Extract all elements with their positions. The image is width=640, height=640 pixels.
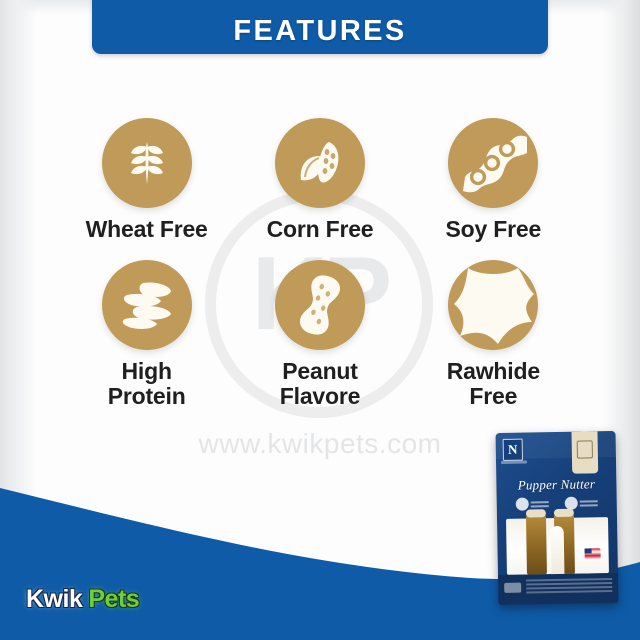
badge-icon (516, 497, 529, 510)
package-product-title: Pupper Nutter (496, 476, 616, 494)
chew-stick-cap (554, 509, 574, 517)
chew-stick-cap (526, 509, 546, 517)
product-package-image: N Pupper Nutter (496, 431, 619, 605)
feature-item-corn-free: Corn Free (233, 118, 406, 242)
feature-item-rawhide-free: Rawhide Free (407, 260, 580, 409)
feature-label: High Protein (108, 359, 186, 409)
feature-grid: Wheat Free (60, 118, 580, 408)
feature-item-soy-free: Soy Free (407, 118, 580, 242)
feature-item-high-protein: High Protein (60, 260, 233, 409)
feature-label: Rawhide Free (447, 359, 540, 409)
logo-word-pets: Pets (88, 585, 139, 614)
page-title: FEATURES (233, 17, 406, 46)
infographic-canvas: KP FEATURES Wh (0, 0, 640, 640)
package-hang-tab (571, 431, 598, 473)
package-brand-monogram: N (503, 439, 523, 461)
dog-silhouette-icon (504, 583, 521, 593)
feature-label: Corn Free (267, 217, 374, 242)
peanut-icon (275, 260, 365, 350)
logo-word-kwik: Kwik (26, 585, 82, 614)
feature-label: Wheat Free (86, 217, 208, 242)
meat-steak-icon (102, 260, 192, 350)
package-hang-tab-hole (577, 440, 593, 458)
package-clear-window (506, 517, 609, 575)
kwik-pets-logo: Kwik Pets (26, 585, 139, 614)
corn-icon (275, 118, 365, 208)
flag-union (585, 548, 592, 553)
package-footer-band (498, 573, 619, 605)
left-edge-shading (0, 0, 38, 640)
package-brand-underline (501, 461, 527, 464)
chew-stick-left (526, 512, 547, 574)
feature-item-peanut-flavore: Peanut Flavore (233, 260, 406, 409)
badge-text-lines (531, 501, 549, 507)
feature-label: Soy Free (446, 217, 542, 242)
usa-flag-icon (585, 548, 601, 559)
wheat-icon (102, 118, 192, 208)
feature-label: Peanut Flavore (280, 359, 360, 409)
features-header-banner: FEATURES (92, 0, 548, 54)
feature-item-wheat-free: Wheat Free (60, 118, 233, 242)
rawhide-icon (448, 260, 538, 350)
package-footer-text-lines (526, 578, 612, 595)
badge-text-lines (580, 500, 598, 506)
soy-bean-icon (448, 118, 538, 208)
